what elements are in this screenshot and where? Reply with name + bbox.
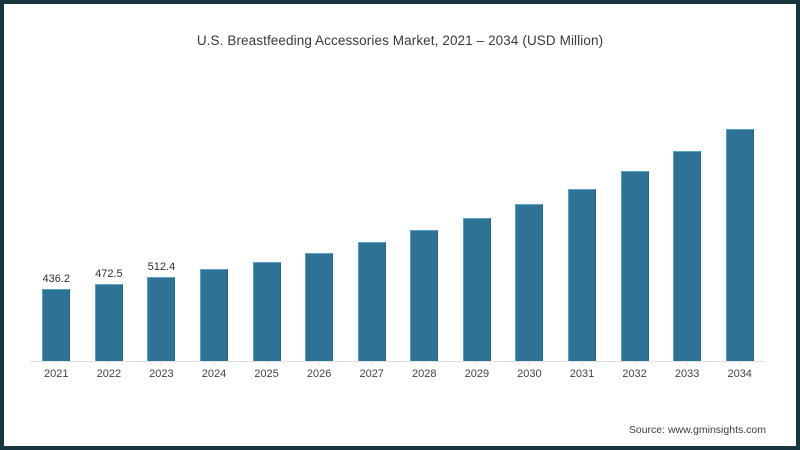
x-axis-label-2027: 2027 [345,368,398,380]
bar-2022[interactable] [95,284,123,361]
x-axis-label-2032: 2032 [608,368,661,380]
bar-2032[interactable] [621,171,649,361]
bar-slot [188,70,241,361]
x-axis-tick [108,361,109,365]
bar-slot [451,70,504,361]
x-axis-tick [687,361,688,365]
x-axis-label-2029: 2029 [451,368,504,380]
bar-2026[interactable] [305,253,333,361]
x-axis-tick [213,361,214,365]
chart-title: U.S. Breastfeeding Accessories Market, 2… [0,33,800,48]
x-axis-tick [424,361,425,365]
bar-2028[interactable] [410,230,438,361]
bar-2029[interactable] [463,218,491,361]
x-axis-label-2026: 2026 [293,368,346,380]
x-axis-label-2024: 2024 [188,368,241,380]
bar-2024[interactable] [200,269,228,361]
bar-2025[interactable] [253,262,281,361]
x-axis-tick [266,361,267,365]
x-axis-label-2023: 2023 [135,368,188,380]
x-axis-label-2030: 2030 [503,368,556,380]
x-axis-tick [371,361,372,365]
bar-2027[interactable] [358,242,386,361]
x-axis-label-2034: 2034 [713,368,766,380]
x-axis-tick [581,361,582,365]
bar-slot [398,70,451,361]
x-axis-label-2033: 2033 [661,368,714,380]
bar-slot [293,70,346,361]
x-axis-tick-labels: 2021202220232024202520262027202820292030… [30,368,766,386]
bar-2033[interactable] [673,151,701,361]
x-axis-label-2022: 2022 [83,368,136,380]
bar-slot [661,70,714,361]
x-axis-label-2028: 2028 [398,368,451,380]
bar-2023[interactable] [147,277,175,361]
x-axis-tick [529,361,530,365]
x-axis-label-2025: 2025 [240,368,293,380]
bar-value-label-2022: 472.5 [95,268,123,280]
bar-slot [608,70,661,361]
plot-area: 436.2472.5512.4 [30,70,766,362]
bar-2021[interactable] [42,289,70,361]
bar-2034[interactable] [726,129,754,361]
x-axis-label-2021: 2021 [30,368,83,380]
bar-2031[interactable] [568,189,596,361]
x-axis-tick [161,361,162,365]
x-axis-tick [634,361,635,365]
bar-slot: 436.2 [30,70,83,361]
chart-screenshot: U.S. Breastfeeding Accessories Market, 2… [0,0,800,450]
x-axis-label-2031: 2031 [556,368,609,380]
x-axis-tick [319,361,320,365]
x-axis-tick [56,361,57,365]
bar-2030[interactable] [515,204,543,361]
x-axis-line [30,361,766,362]
bar-slot: 472.5 [83,70,136,361]
bar-slot: 512.4 [135,70,188,361]
bar-slot [345,70,398,361]
x-axis-tick [739,361,740,365]
x-axis-tick [476,361,477,365]
bar-series: 436.2472.5512.4 [30,70,766,361]
bar-value-label-2021: 436.2 [43,273,71,285]
bar-value-label-2023: 512.4 [148,261,176,273]
bar-slot [240,70,293,361]
bar-slot [556,70,609,361]
source-caption: Source: www.gminsights.com [629,424,766,436]
bar-slot [713,70,766,361]
bar-slot [503,70,556,361]
